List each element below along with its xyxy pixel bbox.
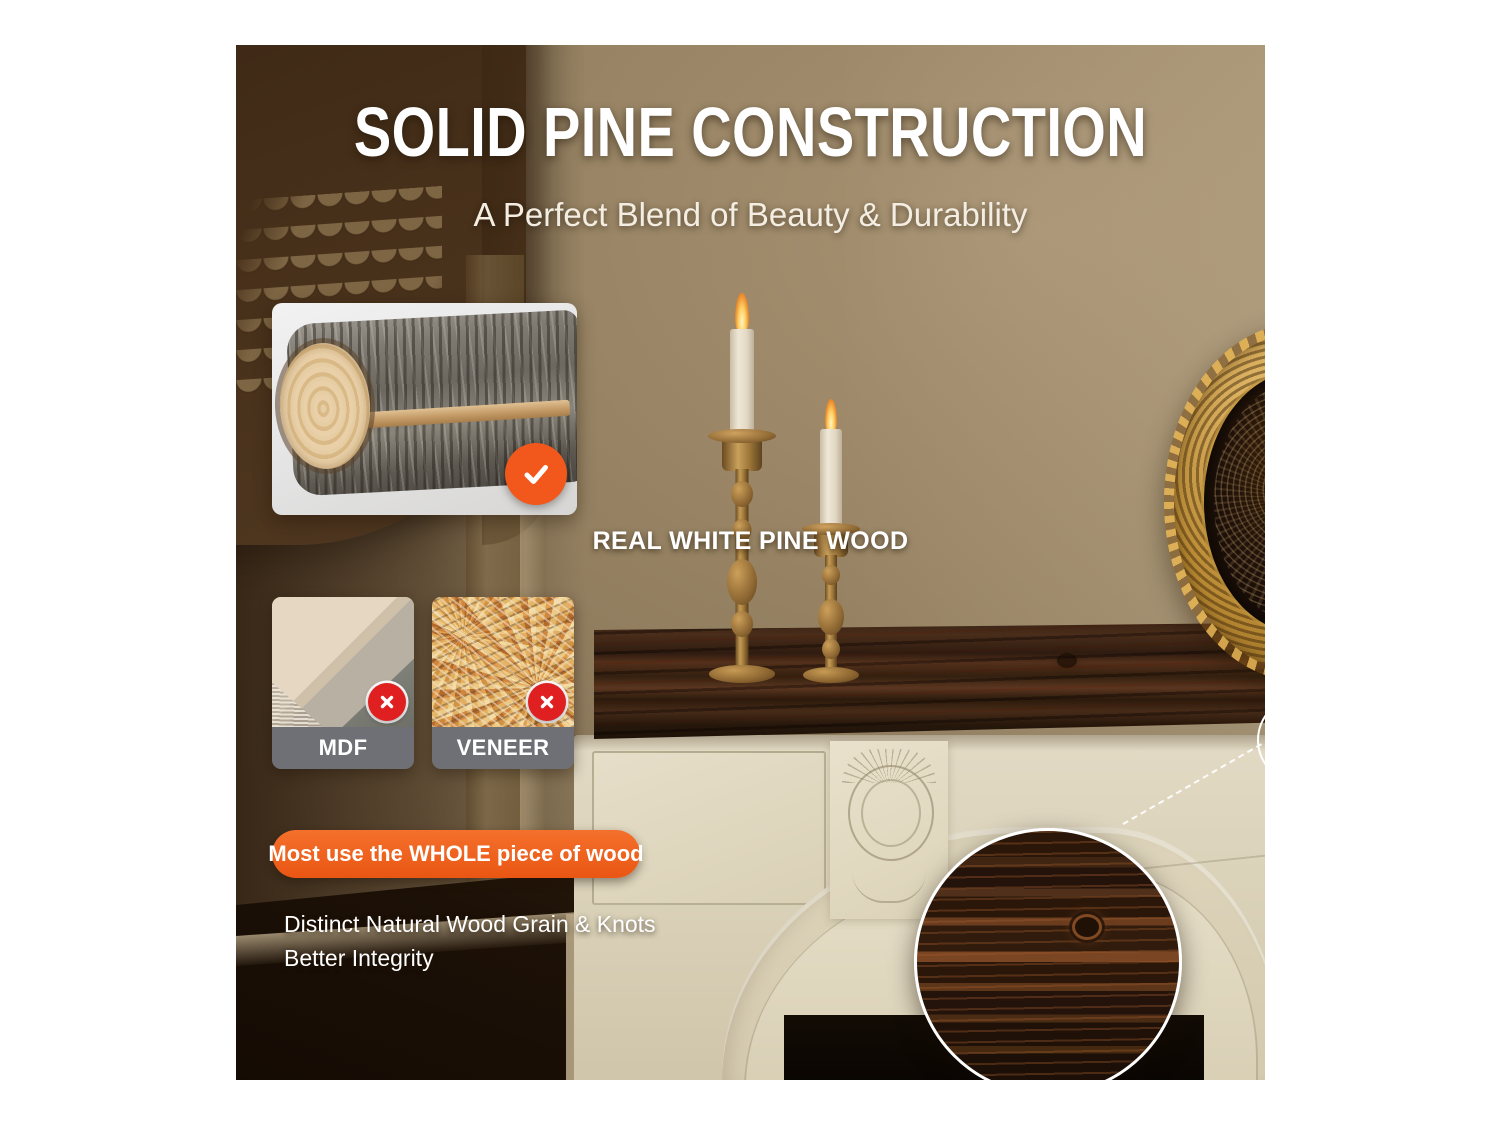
veneer-card: VENEER [432,597,574,769]
check-icon [505,443,567,505]
stem-knob [822,639,840,659]
candlestick-tall [706,293,778,683]
medallion-tail [852,871,926,903]
candle-flame [735,293,749,333]
whole-piece-badge: Most use the WHOLE piece of wood [272,830,640,878]
candlestick-base [803,667,859,683]
candle [730,329,754,441]
stem-knob [731,481,753,507]
candle [820,429,842,533]
mantel-shelf [594,623,1265,739]
feature-description: Distinct Natural Wood Grain & Knots Bett… [284,907,656,975]
mdf-card: MDF [272,597,414,769]
stem-knob [731,611,753,637]
feature-description-line1: Distinct Natural Wood Grain & Knots [284,907,656,941]
page-title: SOLID PINE CONSTRUCTION [339,92,1162,172]
surround-left-panel [592,751,826,905]
product-marketing-image: I IIX IX II X III XI VI IIIV V IV IIV [0,0,1500,1125]
candlestick-base [709,665,775,683]
real-pine-card [272,303,577,515]
veneer-label: VENEER [432,727,574,769]
mantel-knot [1059,655,1075,666]
wood-knot [1075,917,1099,937]
cross-icon [528,683,566,721]
real-pine-caption: REAL WHITE PINE WOOD [236,527,1265,556]
cross-icon [368,683,406,721]
page-subtitle: A Perfect Blend of Beauty & Durability [236,196,1265,234]
stem-knob [822,565,840,585]
feature-description-line2: Better Integrity [284,941,656,975]
candle-flame [825,399,837,433]
wood-grain-magnifier [914,828,1182,1080]
scene-photo: I IIX IX II X III XI VI IIIV V IV IIV [236,45,1265,1080]
candle-bobeche [708,429,776,443]
stem-knob [727,559,757,605]
stem-knob [818,599,844,635]
mdf-label: MDF [272,727,414,769]
